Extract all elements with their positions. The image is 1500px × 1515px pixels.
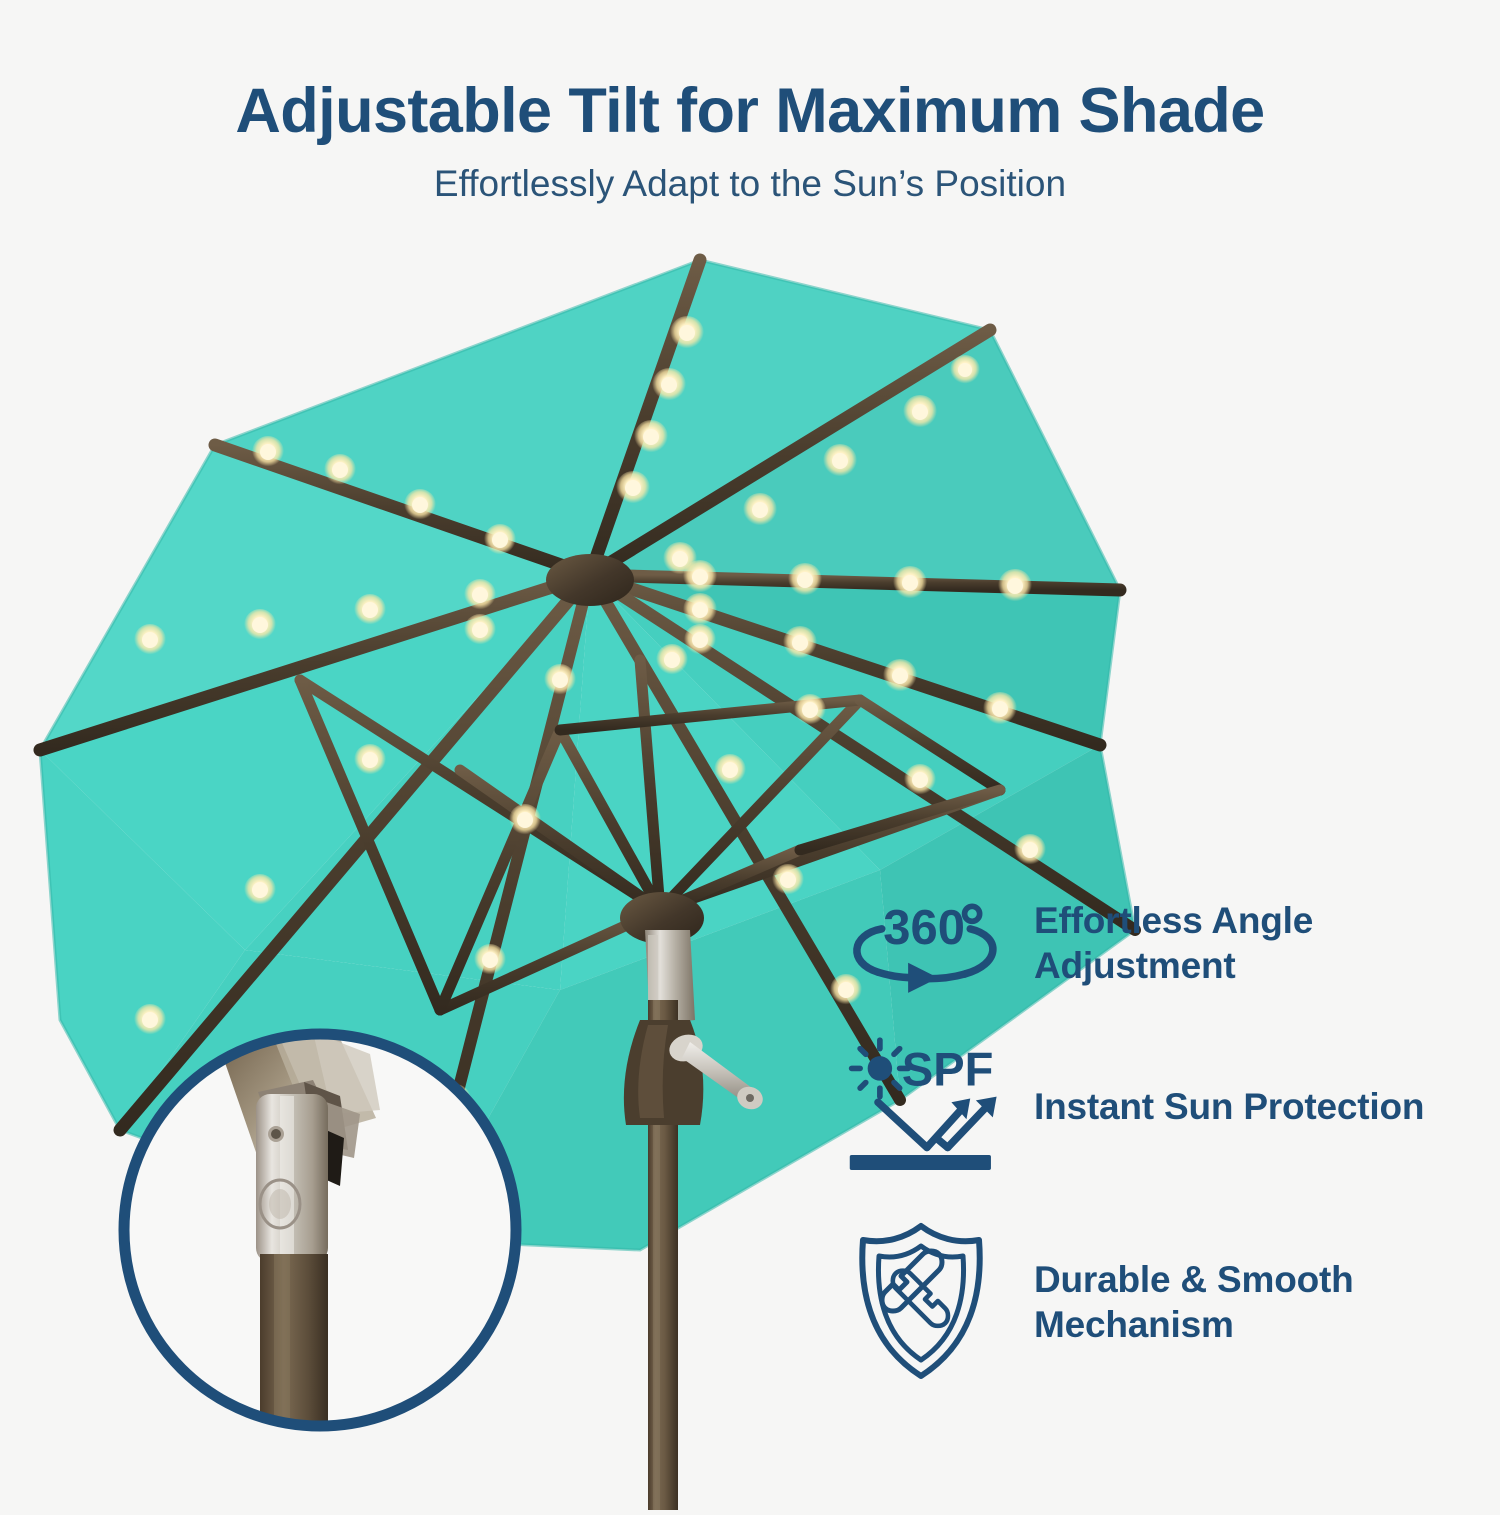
shield-wrench-icon — [846, 1222, 1006, 1382]
header: Adjustable Tilt for Maximum Shade Effort… — [0, 0, 1500, 205]
inset-content — [108, 1018, 532, 1442]
feature-label-line2: Mechanism — [1034, 1302, 1354, 1347]
360-icon-label: 360 — [883, 901, 965, 955]
page-subtitle: Effortlessly Adapt to the Sun’s Position — [0, 144, 1500, 205]
feature-label-line1: Effortless Angle — [1034, 898, 1313, 943]
inset-svg — [108, 1018, 532, 1442]
feature-label-line1: Instant Sun Protection — [1034, 1084, 1424, 1129]
feature-label-angle-adjustment: Effortless Angle Adjustment — [1034, 898, 1313, 988]
spf-icon-label: SPF — [902, 1042, 994, 1095]
tilt-mechanism-inset — [108, 1018, 532, 1442]
feature-label-durable-mechanism: Durable & Smooth Mechanism — [1034, 1257, 1354, 1347]
feature-list: 360 Effortless Angle Adjustment — [846, 888, 1486, 1416]
feature-label-line1: Durable & Smooth — [1034, 1257, 1354, 1302]
feature-item-sun-protection: SPF Instant Sun Protection — [846, 1032, 1486, 1182]
feature-item-durable-mechanism: Durable & Smooth Mechanism — [846, 1222, 1486, 1382]
page-title: Adjustable Tilt for Maximum Shade — [0, 0, 1500, 144]
feature-label-sun-protection: Instant Sun Protection — [1034, 1084, 1424, 1129]
feature-item-angle-adjustment: 360 Effortless Angle Adjustment — [846, 888, 1486, 998]
360-rotation-icon: 360 — [846, 888, 1006, 998]
spf-sun-protection-icon: SPF — [846, 1032, 1006, 1182]
feature-label-line2: Adjustment — [1034, 943, 1313, 988]
upper-hub — [546, 554, 634, 606]
infographic-canvas: Adjustable Tilt for Maximum Shade Effort… — [0, 0, 1500, 1500]
